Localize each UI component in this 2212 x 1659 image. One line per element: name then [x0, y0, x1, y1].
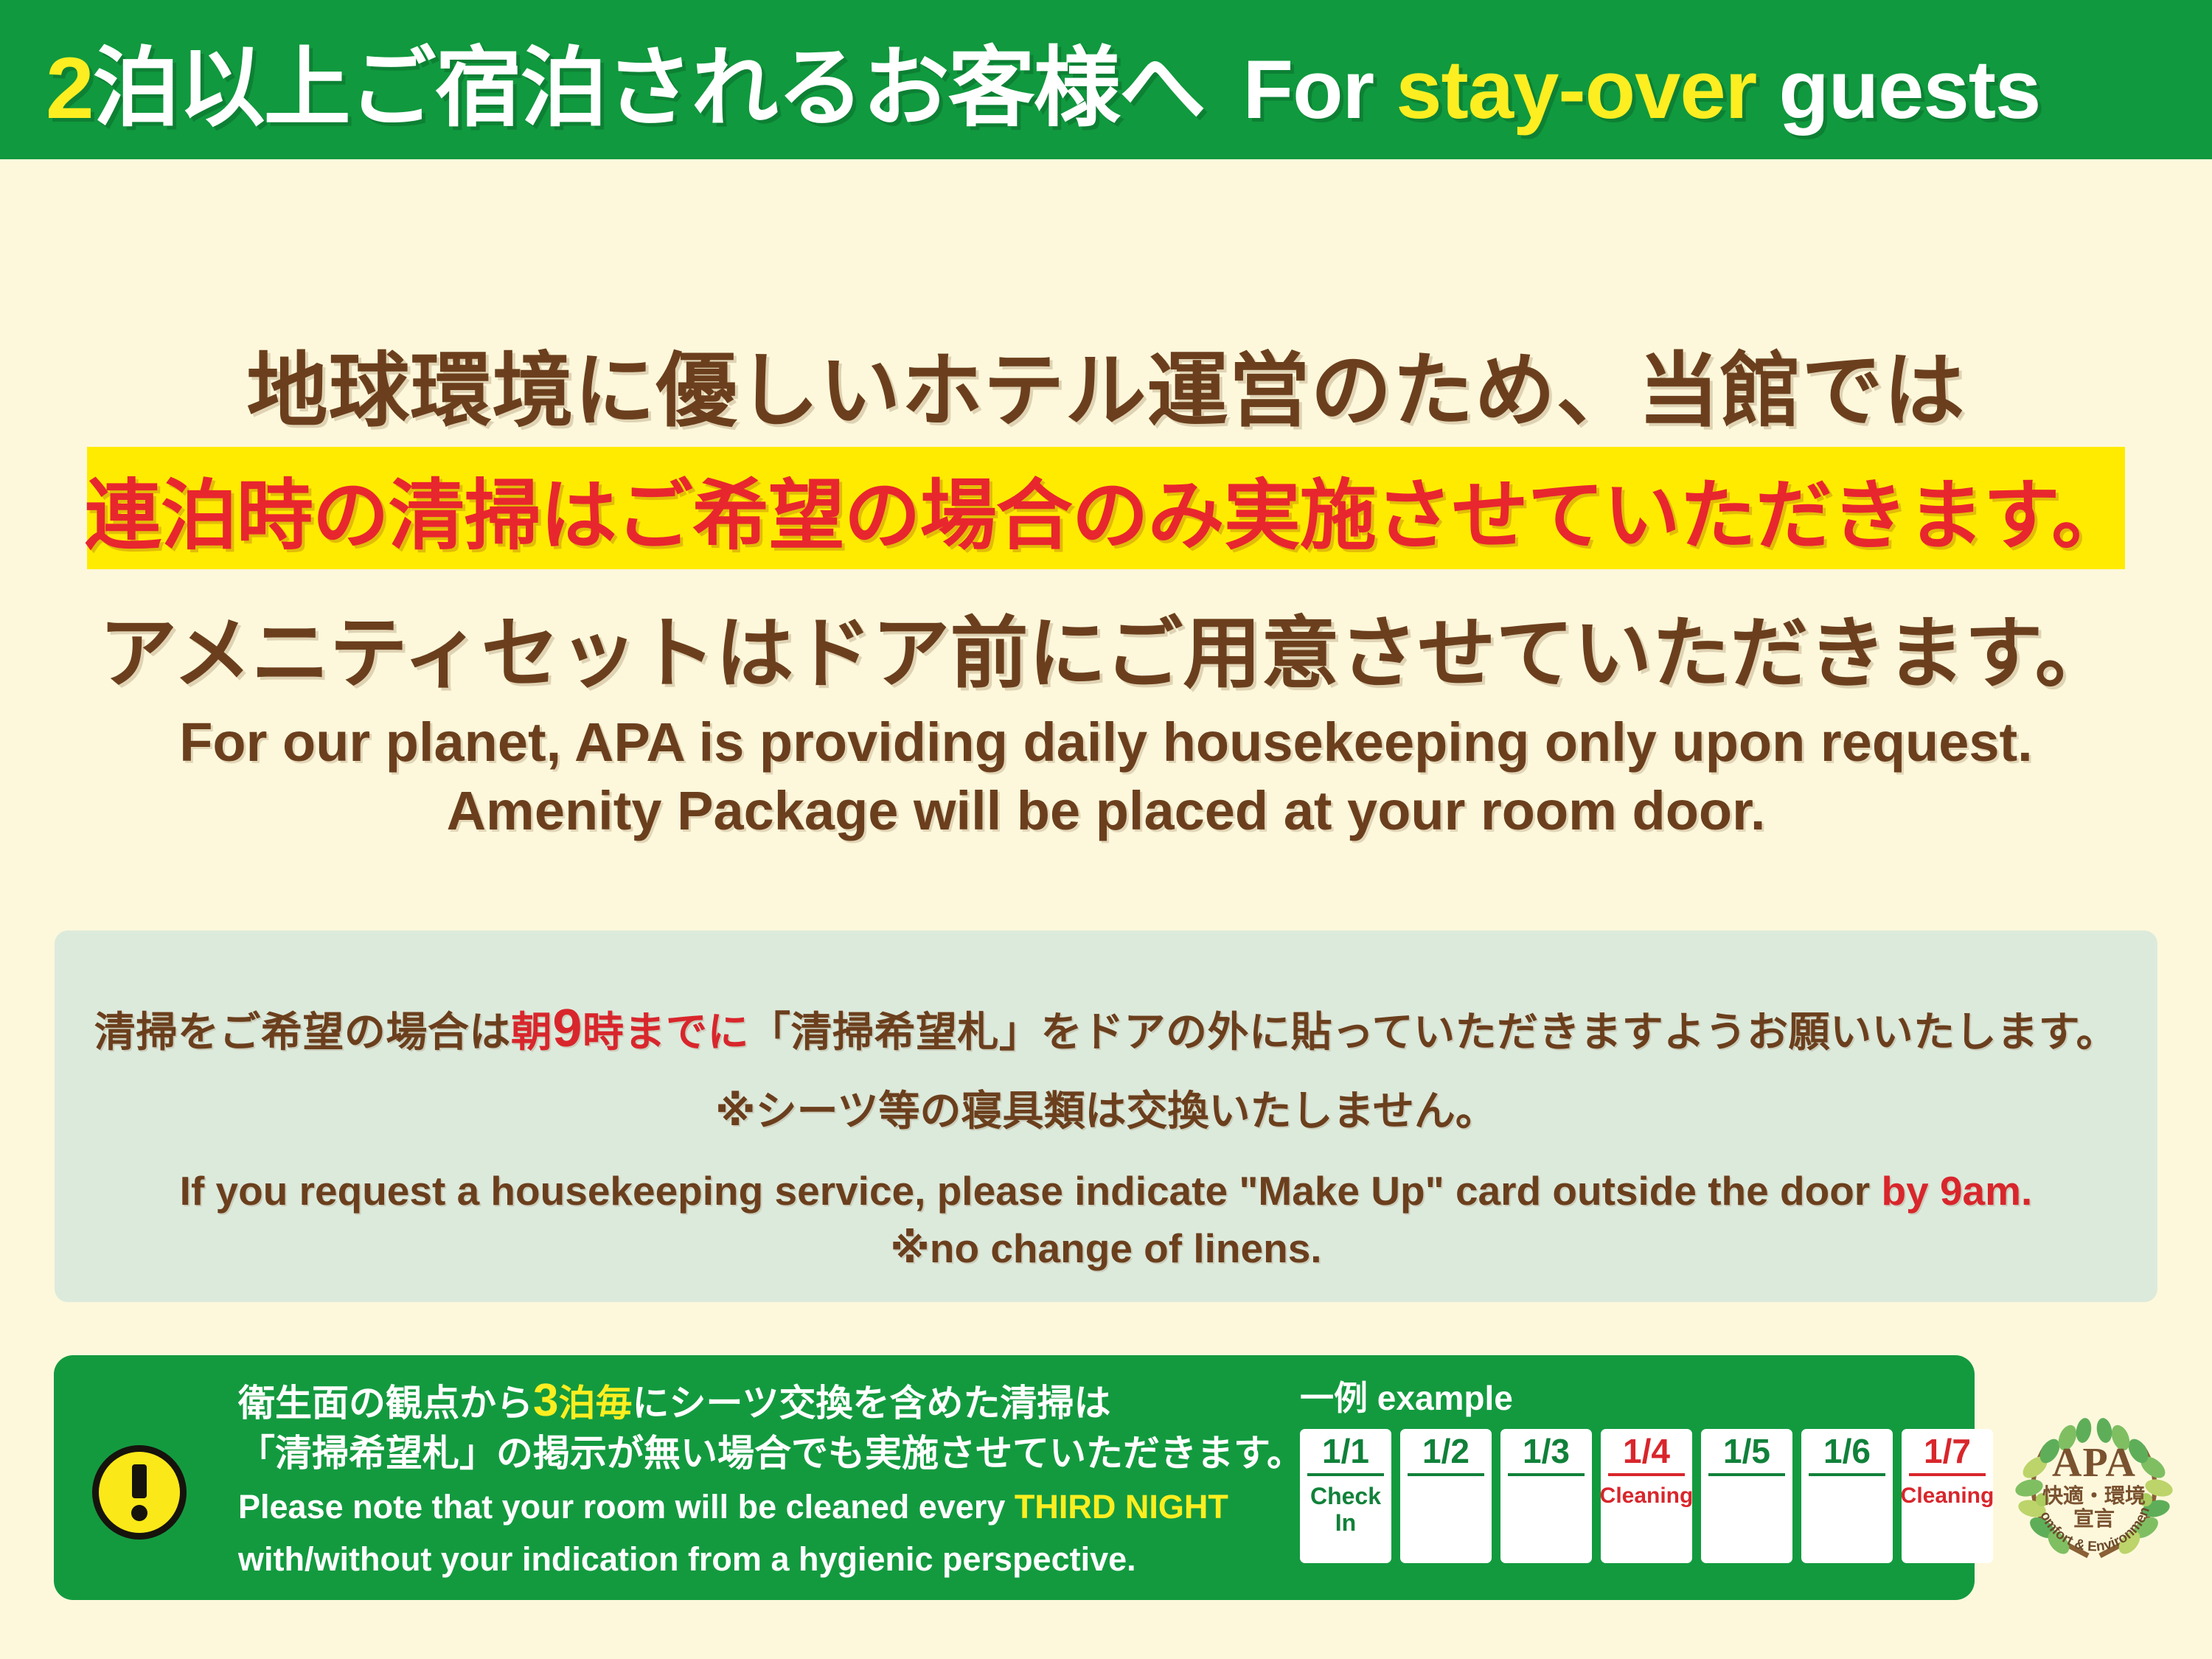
hygiene-jp-prefix: 衛生面の観点から	[238, 1382, 533, 1424]
hygiene-en-prefix: Please note that your room will be clean…	[238, 1488, 1015, 1526]
example-calendar: 一例 example 1/1CheckIn1/21/31/4Cleaning1/…	[1300, 1371, 1993, 1563]
note-english-line-2: ※no change of linens.	[55, 1225, 2157, 1272]
calendar-cell: 1/2	[1400, 1429, 1492, 1563]
calendar-cell: 1/1CheckIn	[1300, 1429, 1391, 1563]
poster-root: 2泊以上ご宿泊されるお客様へ For stay-over guests 地球環境…	[0, 0, 2212, 1659]
svg-text:APA: APA	[2052, 1440, 2136, 1486]
hygiene-notice-text: 衛生面の観点から3泊毎にシーツ交換を含めた清掃は 「清掃希望札」の掲示が無い場合…	[238, 1371, 1270, 1581]
note-jp-nine: 9	[552, 999, 582, 1058]
example-calendar-label: 一例 example	[1300, 1371, 1993, 1420]
calendar-cell-date: 1/2	[1422, 1433, 1470, 1469]
main-japanese-line-1: 地球環境に優しいホテル運営のため、当館では	[0, 324, 2212, 442]
calendar-cell-note: CheckIn	[1310, 1484, 1381, 1537]
main-japanese-highlight: 連泊時の清掃はご希望の場合のみ実施させていただきます。	[85, 453, 2128, 564]
header-title-japanese: 2泊以上ご宿泊されるお客様へ	[46, 17, 1205, 143]
header-title-english: For stay-over guests	[1243, 42, 2041, 137]
hygiene-jp-haku: 泊毎	[558, 1382, 632, 1424]
note-en-by-9am: by 9am.	[1882, 1168, 2033, 1214]
note-en-prefix: If you request a housekeeping service, p…	[180, 1168, 1882, 1214]
note-jp-asa: 朝	[511, 1009, 553, 1055]
hygiene-notice-panel: 衛生面の観点から3泊毎にシーツ交換を含めた清掃は 「清掃希望札」の掲示が無い場合…	[54, 1355, 1975, 1600]
calendar-cell-divider	[1708, 1473, 1785, 1476]
hygiene-jp-night-count: 3	[533, 1375, 558, 1426]
calendar-cell-date: 1/1	[1322, 1433, 1369, 1469]
note-jp-prefix: 清掃をご希望の場合は	[94, 1009, 511, 1055]
calendar-cell: 1/6	[1801, 1429, 1893, 1563]
note-english-line-1: If you request a housekeeping service, p…	[55, 1167, 2157, 1214]
hygiene-japanese-line-1: 衛生面の観点から3泊毎にシーツ交換を含めた清掃は	[238, 1371, 1270, 1430]
main-japanese-line-2: アメニティセットはドア前にご用意させていただきます。	[0, 590, 2212, 703]
note-japanese-line-1: 清掃をご希望の場合は朝9時までに「清掃希望札」をドアの外に貼っていただきますよう…	[55, 998, 2157, 1059]
calendar-cell-divider	[1508, 1473, 1585, 1476]
apa-logo-svg: APA 快適・環境 宣言 Comfort & Environment	[2001, 1389, 2187, 1575]
hygiene-japanese-line-2: 「清掃希望札」の掲示が無い場合でも実施させていただきます。	[238, 1430, 1270, 1477]
calendar-cell: 1/7Cleaning	[1902, 1429, 1993, 1563]
exclamation-dot	[131, 1505, 147, 1521]
exclamation-circle-icon	[92, 1445, 187, 1540]
header-text-group: 2泊以上ご宿泊されるお客様へ For stay-over guests	[0, 17, 2040, 143]
calendar-cell-date: 1/3	[1523, 1433, 1570, 1469]
calendar-cell-divider	[1307, 1473, 1384, 1476]
calendar-cell-divider	[1608, 1473, 1685, 1476]
svg-text:宣言: 宣言	[2073, 1506, 2115, 1530]
exclamation-stroke	[132, 1464, 147, 1498]
calendar-cell: 1/5	[1701, 1429, 1792, 1563]
note-jp-suffix: 「清掃希望札」をドアの外に貼っていただきますようお願いいたします。	[749, 1009, 2118, 1055]
calendar-cell-date: 1/4	[1623, 1433, 1670, 1469]
example-calendar-row: 1/1CheckIn1/21/31/4Cleaning1/51/61/7Clea…	[1300, 1429, 1993, 1563]
main-english-line-1: For our planet, APA is providing daily h…	[0, 708, 2212, 776]
hygiene-jp-suffix: にシーツ交換を含めた清掃は	[632, 1382, 1110, 1424]
calendar-cell-divider	[1909, 1473, 1986, 1476]
calendar-cell: 1/4Cleaning	[1601, 1429, 1692, 1563]
main-english-line-2: Amenity Package will be placed at your r…	[0, 776, 2212, 845]
calendar-cell-note: Cleaning	[1600, 1484, 1694, 1509]
calendar-cell-date: 1/7	[1924, 1433, 1971, 1469]
hygiene-english-line-1: Please note that your room will be clean…	[238, 1486, 1270, 1529]
calendar-cell-divider	[1408, 1473, 1484, 1476]
calendar-cell-date: 1/6	[1823, 1433, 1871, 1469]
note-japanese-line-2: ※シーツ等の寝具類は交換いたしません。	[55, 1078, 2157, 1138]
header-night-count: 2	[46, 40, 93, 137]
apa-comfort-environment-logo: APA 快適・環境 宣言 Comfort & Environment	[2001, 1389, 2187, 1575]
highlight-band: 連泊時の清掃はご希望の場合のみ実施させていただきます。	[87, 447, 2125, 569]
header-title-japanese-rest: 泊以上ご宿泊されるお客様へ	[93, 40, 1205, 137]
main-english-paragraph: For our planet, APA is providing daily h…	[0, 708, 2212, 845]
note-jp-ji: 時までに	[582, 1009, 749, 1055]
hygiene-english-line-2: with/without your indication from a hygi…	[238, 1538, 1270, 1582]
header-en-for: For	[1243, 44, 1397, 136]
calendar-cell: 1/3	[1500, 1429, 1592, 1563]
header-en-guests: guests	[1756, 44, 2040, 136]
calendar-cell-divider	[1809, 1473, 1885, 1476]
header-en-stayover: stay-over	[1396, 44, 1756, 136]
calendar-cell-note: Cleaning	[1901, 1484, 1994, 1509]
request-note-box: 清掃をご希望の場合は朝9時までに「清掃希望札」をドアの外に貼っていただきますよう…	[55, 931, 2157, 1302]
svg-text:快適・環境: 快適・環境	[2042, 1484, 2146, 1507]
hygiene-en-third-night: THIRD NIGHT	[1015, 1488, 1228, 1526]
header-banner: 2泊以上ご宿泊されるお客様へ For stay-over guests	[0, 0, 2212, 159]
calendar-cell-date: 1/5	[1723, 1433, 1770, 1469]
